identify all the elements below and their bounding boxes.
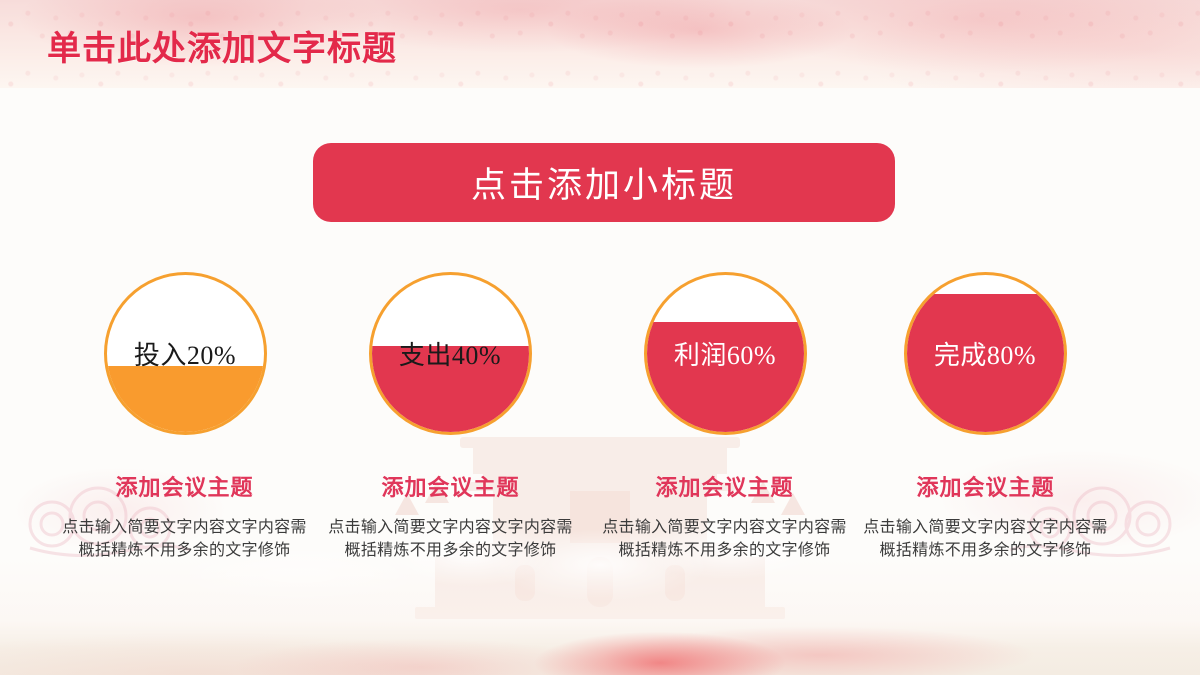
metric-gauges-row: 投入20% 支出40% 利润60% 完成80% bbox=[0, 272, 1200, 442]
gauge-fill bbox=[107, 366, 264, 432]
liquid-fill-gauge[interactable]: 投入20% bbox=[104, 272, 267, 435]
caption-heading: 添加会议主题 bbox=[587, 470, 862, 502]
caption-body: 点击输入简要文字内容文字内容需概括精炼不用多余的文字修饰 bbox=[313, 516, 588, 562]
liquid-fill-gauge[interactable]: 完成80% bbox=[904, 272, 1067, 435]
caption-heading: 添加会议主题 bbox=[47, 470, 322, 502]
liquid-fill-gauge[interactable]: 支出40% bbox=[369, 272, 532, 435]
subtitle-banner[interactable]: 点击添加小标题 bbox=[313, 143, 895, 222]
metric-item[interactable]: 利润60% bbox=[625, 272, 825, 435]
caption-block: 添加会议主题 点击输入简要文字内容文字内容需概括精炼不用多余的文字修饰 bbox=[313, 470, 588, 562]
metric-item[interactable]: 支出40% bbox=[350, 272, 550, 435]
liquid-fill-gauge[interactable]: 利润60% bbox=[644, 272, 807, 435]
gauge-label: 投入20% bbox=[134, 335, 236, 372]
gauge-label: 利润60% bbox=[674, 335, 776, 372]
bottom-watercolor-wash bbox=[0, 555, 1200, 675]
slide: 单击此处添加文字标题 点击添加小标题 投入20% 支出40% 利润60% bbox=[0, 0, 1200, 675]
caption-block: 添加会议主题 点击输入简要文字内容文字内容需概括精炼不用多余的文字修饰 bbox=[47, 470, 322, 562]
gauge-label: 完成80% bbox=[934, 335, 1036, 372]
caption-block: 添加会议主题 点击输入简要文字内容文字内容需概括精炼不用多余的文字修饰 bbox=[587, 470, 862, 562]
subtitle-banner-label: 点击添加小标题 bbox=[471, 157, 737, 208]
caption-heading: 添加会议主题 bbox=[848, 470, 1123, 502]
caption-body: 点击输入简要文字内容文字内容需概括精炼不用多余的文字修饰 bbox=[848, 516, 1123, 562]
caption-block: 添加会议主题 点击输入简要文字内容文字内容需概括精炼不用多余的文字修饰 bbox=[848, 470, 1123, 562]
metric-item[interactable]: 完成80% bbox=[885, 272, 1085, 435]
page-title: 单击此处添加文字标题 bbox=[47, 21, 397, 70]
caption-body: 点击输入简要文字内容文字内容需概括精炼不用多余的文字修饰 bbox=[47, 516, 322, 562]
caption-heading: 添加会议主题 bbox=[313, 470, 588, 502]
caption-body: 点击输入简要文字内容文字内容需概括精炼不用多余的文字修饰 bbox=[587, 516, 862, 562]
gauge-label: 支出40% bbox=[399, 335, 501, 372]
metric-item[interactable]: 投入20% bbox=[85, 272, 285, 435]
